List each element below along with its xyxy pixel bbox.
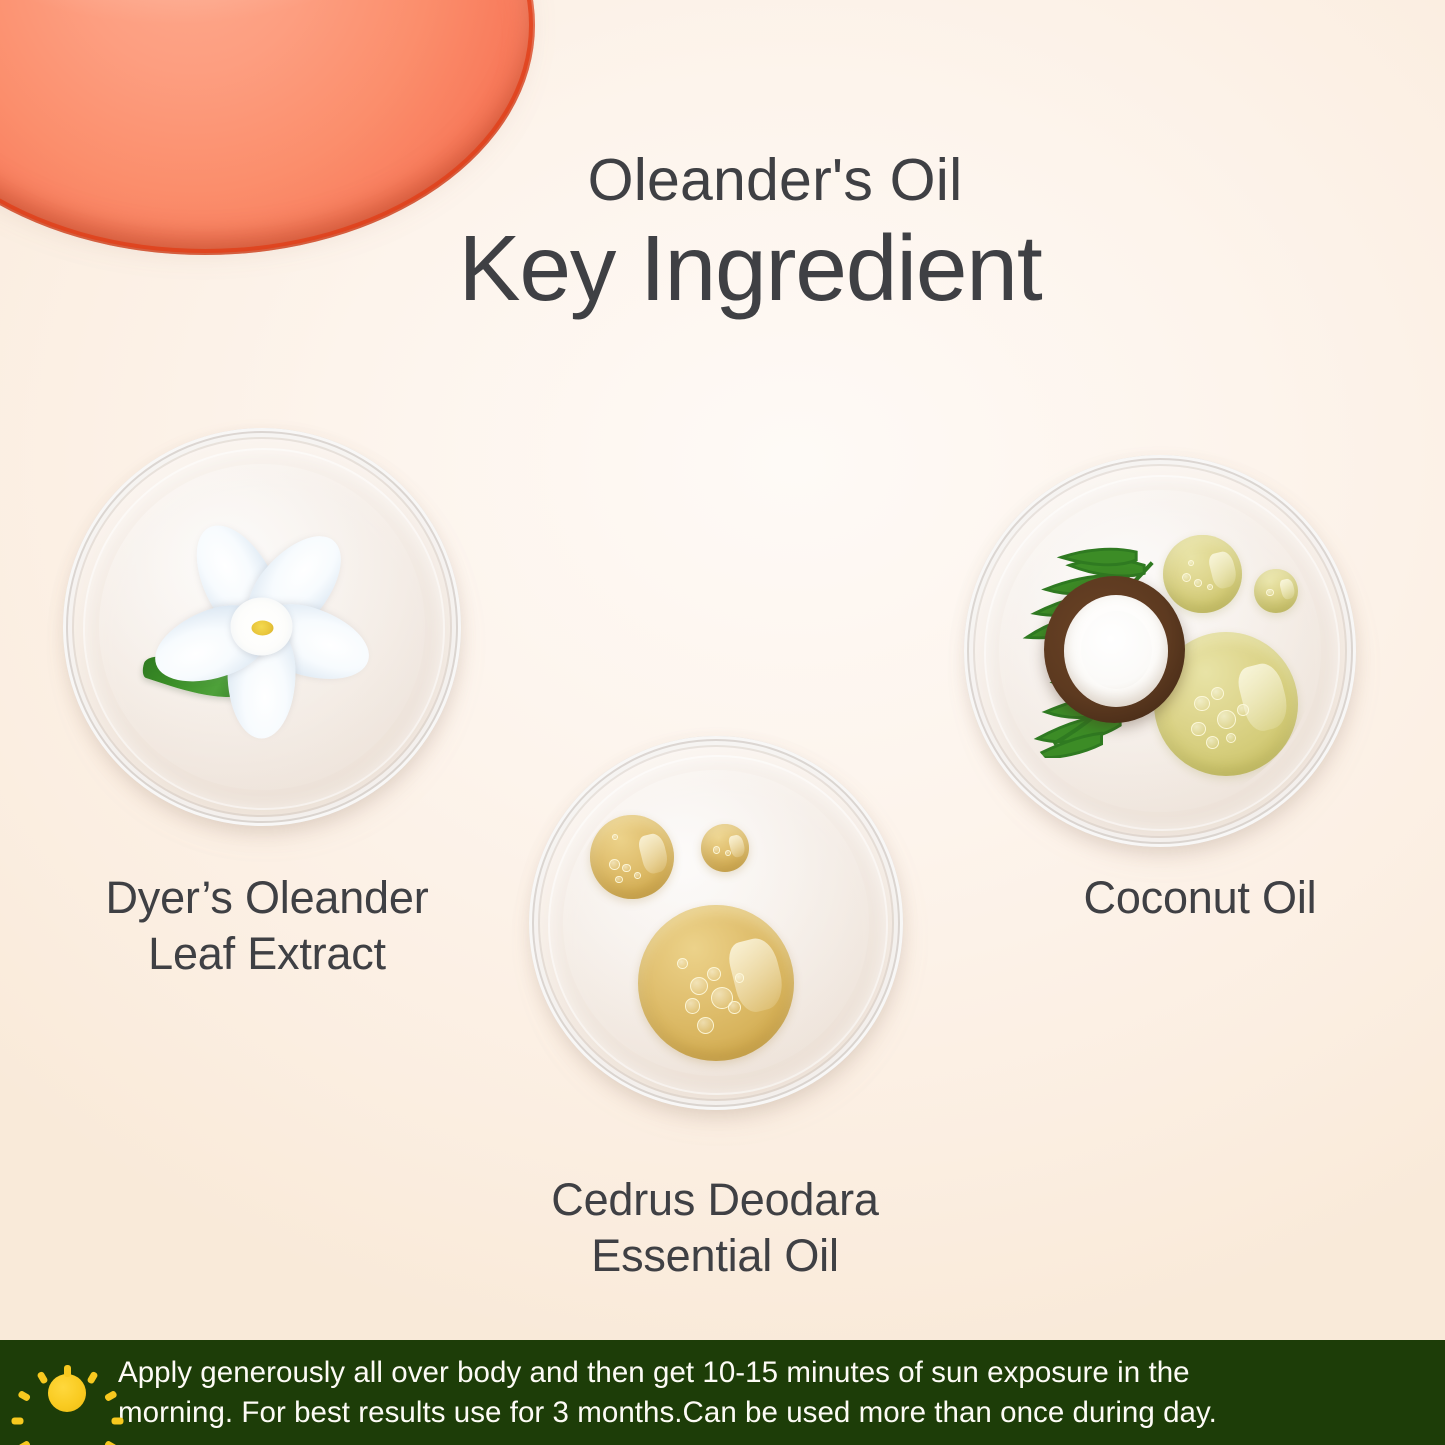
oil-droplet [1254,569,1298,613]
sun-ray [17,1389,31,1401]
sun-ray [36,1370,48,1384]
sun-ray [103,1389,117,1401]
sun-ray [86,1370,98,1384]
usage-instruction-banner: Apply generously all over body and then … [0,1340,1445,1445]
oil-bubble-icon [1194,579,1202,587]
oil-bubble-icon [622,864,630,872]
oil-bubble-icon [634,872,641,879]
oil-bubble-icon [1237,704,1249,716]
oil-bubble-icon [1217,710,1236,729]
sun-ray [111,1417,123,1424]
oil-bubble-icon [1211,687,1224,700]
sun-core [48,1374,86,1412]
oil-bubble-icon [677,958,688,969]
usage-instruction-text: Apply generously all over body and then … [118,1353,1217,1431]
ingredient-dish-oleander [63,428,461,826]
oil-droplet [590,815,674,899]
sun-ray [17,1439,31,1445]
oil-bubble-icon [1194,696,1210,712]
oil-droplet [701,824,749,872]
half-coconut-icon [1044,576,1185,723]
poster-subtitle: Oleander's Oil [0,146,1445,214]
dish-contents-coconut [1003,494,1317,808]
ingredient-label-coconut: Coconut Oil [1000,870,1400,926]
oil-bubble-icon [612,834,618,840]
key-ingredient-poster: Oleander's Oil Key Ingredient [0,0,1445,1445]
oil-bubble-icon [615,876,623,884]
oil-bubble-icon [1206,736,1219,749]
oil-bubble-icon [725,850,731,856]
ingredient-dish-cedrus-deodara [529,736,903,1110]
sun-ray [64,1365,71,1377]
oil-bubble-icon [1207,584,1213,590]
sun-ray [103,1439,117,1445]
droplet-highlight [637,831,671,874]
droplet-highlight [1279,578,1297,601]
ingredient-label-oleander: Dyer’s Oleander Leaf Extract [32,870,502,982]
sun-icon [30,1356,104,1430]
oil-bubble-icon [713,846,721,854]
oil-bubble-icon [609,859,620,870]
droplet-highlight [1234,660,1292,735]
oil-bubble-icon [707,967,721,981]
oleander-flower-icon [144,509,379,744]
oil-bubble-icon [1188,560,1194,566]
oil-bubble-icon [728,1001,740,1013]
coconut-flesh [1064,595,1168,707]
page-title: Key Ingredient [0,215,1445,322]
oil-bubble-icon [685,998,701,1014]
oil-bubble-icon [1191,722,1205,736]
oil-bubble-icon [1226,733,1236,743]
dish-contents-oleander [103,468,421,786]
oil-bubble-icon [735,973,744,982]
ingredient-dish-coconut [964,455,1356,847]
oil-bubble-icon [1266,589,1273,596]
sun-ray [11,1417,23,1424]
flower-stamen-icon [252,621,274,636]
oil-bubble-icon [697,1017,714,1034]
oil-bubble-icon [690,977,709,996]
dish-contents-cedrus-oil [566,773,865,1072]
oil-droplet [638,905,794,1061]
ingredient-label-cedrus: Cedrus Deodara Essential Oil [500,1172,930,1284]
droplet-highlight [728,833,747,858]
